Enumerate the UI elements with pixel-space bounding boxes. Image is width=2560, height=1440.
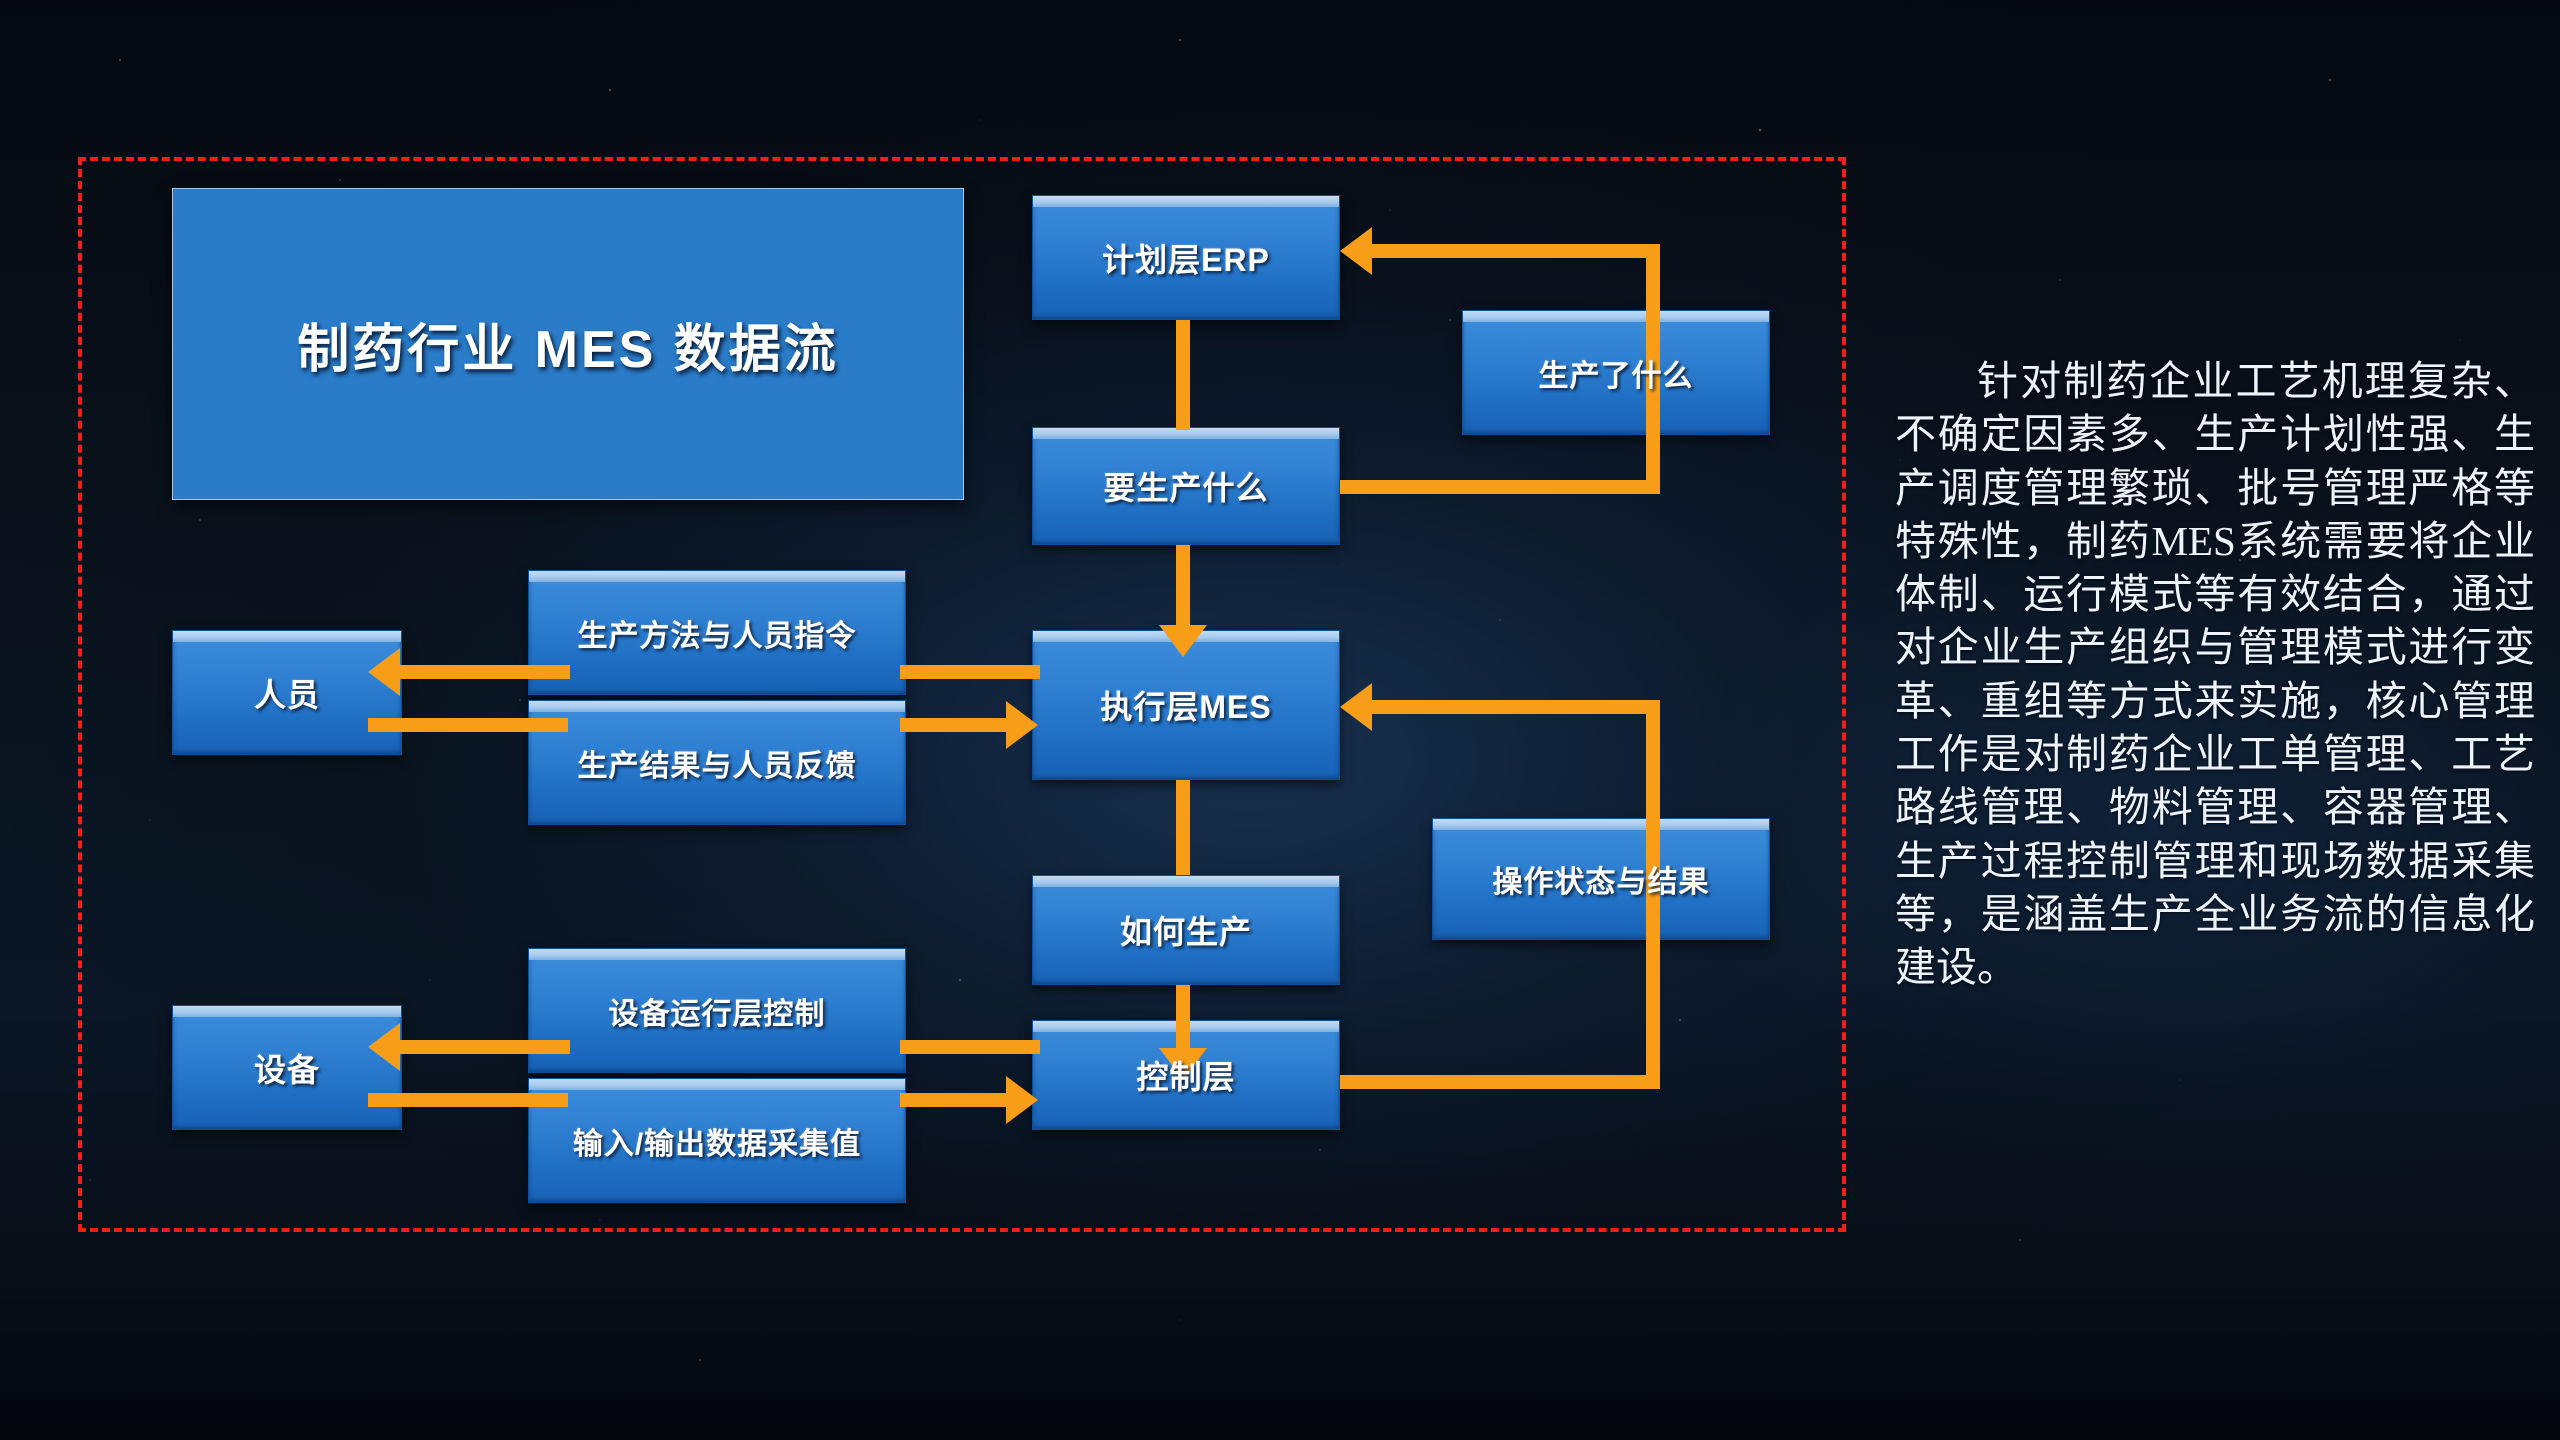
connector-loop-to-erp xyxy=(1372,244,1660,258)
node-planning-erp-label: 计划层ERP xyxy=(1102,235,1270,281)
node-how-to-produce[interactable]: 如何生产 xyxy=(1032,875,1340,985)
connector-labelstack-to-mes-upper xyxy=(900,665,1040,679)
connector-toproduce-right xyxy=(1340,480,1660,494)
page-title: 制药行业 MES 数据流 xyxy=(297,307,839,382)
node-io-data-collection-label: 输入/输出数据采集值 xyxy=(573,1119,861,1163)
arrowhead-into-mes-right xyxy=(1340,683,1372,731)
connector-control-right xyxy=(1340,1075,1660,1089)
node-produced-what-label: 生产了什么 xyxy=(1539,351,1694,395)
node-control-layer-label: 控制层 xyxy=(1136,1052,1235,1098)
connector-personnel-feedback-out xyxy=(368,718,568,732)
node-to-produce-what[interactable]: 要生产什么 xyxy=(1032,427,1340,545)
connector-labelstack-to-mes-lower xyxy=(900,718,1008,732)
connector-equipment-feedback-out xyxy=(368,1093,568,1107)
node-how-to-produce-label: 如何生产 xyxy=(1120,907,1252,953)
connector-eqlabelstack-to-control-upper xyxy=(900,1040,1040,1054)
node-result-and-feedback[interactable]: 生产结果与人员反馈 xyxy=(528,700,906,825)
node-method-and-instruction[interactable]: 生产方法与人员指令 xyxy=(528,570,906,695)
node-result-and-feedback-label: 生产结果与人员反馈 xyxy=(578,741,857,785)
node-io-data-collection[interactable]: 输入/输出数据采集值 xyxy=(528,1078,906,1203)
node-planning-erp[interactable]: 计划层ERP xyxy=(1032,195,1340,320)
node-operation-status-result-label: 操作状态与结果 xyxy=(1493,857,1710,901)
connector-mes-to-howproduce xyxy=(1176,780,1190,875)
arrowhead-into-personnel xyxy=(368,648,400,696)
node-personnel-label: 人员 xyxy=(254,670,320,716)
node-method-and-instruction-label: 生产方法与人员指令 xyxy=(578,611,857,655)
description-paragraph: 针对制药企业工艺机理复杂、不确定因素多、生产计划性强、生产调度管理繁琐、批号管理… xyxy=(1895,355,2535,995)
arrowhead-into-mes-top xyxy=(1159,625,1207,657)
connector-eqcontrol-to-equipment xyxy=(400,1040,570,1054)
arrowhead-into-equipment xyxy=(368,1023,400,1071)
node-produced-what[interactable]: 生产了什么 xyxy=(1462,310,1770,435)
arrowhead-into-control-left xyxy=(1006,1076,1038,1124)
connector-erp-to-toproduce xyxy=(1176,320,1190,430)
connector-eqlabelstack-to-control-lower xyxy=(900,1093,1008,1107)
connector-howproduce-to-control xyxy=(1176,985,1190,1055)
diagram-title-panel: 制药行业 MES 数据流 xyxy=(172,188,964,500)
connector-statusloop-to-mes xyxy=(1372,700,1660,714)
node-equipment-run-control-label: 设备运行层控制 xyxy=(609,989,826,1033)
arrowhead-into-erp xyxy=(1340,227,1372,275)
node-to-produce-what-label: 要生产什么 xyxy=(1103,463,1268,509)
node-operation-status-result[interactable]: 操作状态与结果 xyxy=(1432,818,1770,940)
node-equipment-label: 设备 xyxy=(254,1045,320,1091)
connector-toproduce-to-mes xyxy=(1176,545,1190,630)
node-equipment-run-control[interactable]: 设备运行层控制 xyxy=(528,948,906,1073)
arrowhead-into-mes-left xyxy=(1006,701,1038,749)
connector-instruction-to-personnel xyxy=(400,665,570,679)
slide-canvas: 制药行业 MES 数据流 计划层ERP 生产了什么 要生产什么 xyxy=(0,0,2560,1440)
node-execution-mes-label: 执行层MES xyxy=(1100,682,1271,728)
